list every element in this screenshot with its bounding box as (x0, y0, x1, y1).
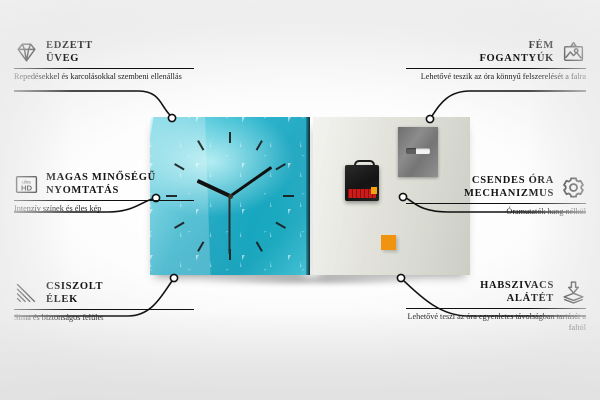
battery (348, 189, 376, 198)
feature-high-quality-print[interactable]: ultra HD MAGAS MINŐSÉGŰNYOMTATÁS Intenzí… (14, 172, 194, 215)
feature-description: Lehetővé teszi az óra egyenletes távolsá… (406, 312, 586, 333)
feature-foam-pad[interactable]: HABSZIVACSALÁTÉT Lehetővé teszi az óra e… (406, 280, 586, 333)
feature-title: FÉMFOGANTYÚK (479, 40, 554, 65)
clock-tick (197, 140, 204, 151)
feature-rule (14, 68, 194, 69)
connector-tempered-glass (14, 91, 170, 115)
clock-tick (256, 140, 263, 151)
feature-description: Repedésekkel és karcolásokkal szembeni e… (14, 72, 194, 83)
feature-header: CSENDES ÓRAMECHANIZMUS (406, 175, 586, 200)
feature-metal-handles[interactable]: FÉMFOGANTYÚK Lehetővé teszik az óra könn… (406, 40, 586, 83)
feature-rule (14, 309, 194, 310)
feature-polished-edges[interactable]: CSISZOLTÉLEK Sima és biztonságos felület (14, 281, 194, 324)
feature-header: FÉMFOGANTYÚK (406, 40, 586, 65)
feature-title: HABSZIVACSALÁTÉT (480, 280, 554, 305)
glass-edge (306, 117, 310, 275)
feature-silent-mechanism[interactable]: CSENDES ÓRAMECHANIZMUS Óramutatók hang n… (406, 175, 586, 218)
feature-description: Lehetővé teszik az óra könnyű felszerelé… (406, 72, 586, 83)
hanger-slot (406, 148, 430, 154)
connector-handles (432, 91, 586, 116)
feature-rule (406, 68, 586, 69)
feature-rule (406, 203, 586, 204)
clock-tick (197, 241, 204, 252)
clock-tick (275, 163, 286, 170)
feature-description: Intenzív színek és éles kép (14, 204, 194, 215)
arrow-down-pad-icon (561, 280, 586, 305)
clock-tick (283, 195, 294, 197)
clock-tick (174, 163, 185, 170)
feature-header: ultra HD MAGAS MINŐSÉGŰNYOMTATÁS (14, 172, 194, 197)
clock-tick (256, 241, 263, 252)
metal-hanger-bracket (398, 127, 438, 177)
clock-tick (275, 222, 286, 229)
clock-tick (174, 222, 185, 229)
feature-tempered-glass[interactable]: EDZETTÜVEG Repedésekkel és karcolásokkal… (14, 40, 194, 83)
hanging-picture-frame-icon (561, 40, 586, 65)
diagonal-lines-icon (14, 281, 39, 306)
ultra-hd-icon-main: HD (21, 183, 33, 192)
feature-rule (14, 200, 194, 201)
gear-icon (561, 175, 586, 200)
feature-header: EDZETTÜVEG (14, 40, 194, 65)
feature-header: HABSZIVACSALÁTÉT (406, 280, 586, 305)
feature-title: CSISZOLTÉLEK (46, 281, 103, 306)
clock-center-pin (228, 194, 233, 199)
feature-title: CSENDES ÓRAMECHANIZMUS (464, 175, 554, 200)
feature-title: EDZETTÜVEG (46, 40, 93, 65)
clock-mechanism (345, 165, 379, 201)
feature-description: Sima és biztonságos felület (14, 313, 194, 324)
infographic-canvas: EDZETTÜVEG Repedésekkel és karcolásokkal… (0, 0, 600, 400)
feature-header: CSISZOLTÉLEK (14, 281, 194, 306)
feature-description: Óramutatók hang nélkül (406, 207, 586, 218)
feature-rule (406, 308, 586, 309)
foam-pad (381, 235, 396, 250)
diamond-icon (14, 40, 39, 65)
clock-tick (229, 132, 231, 143)
ultra-hd-icon: ultra HD (14, 172, 39, 197)
feature-title: MAGAS MINŐSÉGŰNYOMTATÁS (46, 172, 156, 197)
